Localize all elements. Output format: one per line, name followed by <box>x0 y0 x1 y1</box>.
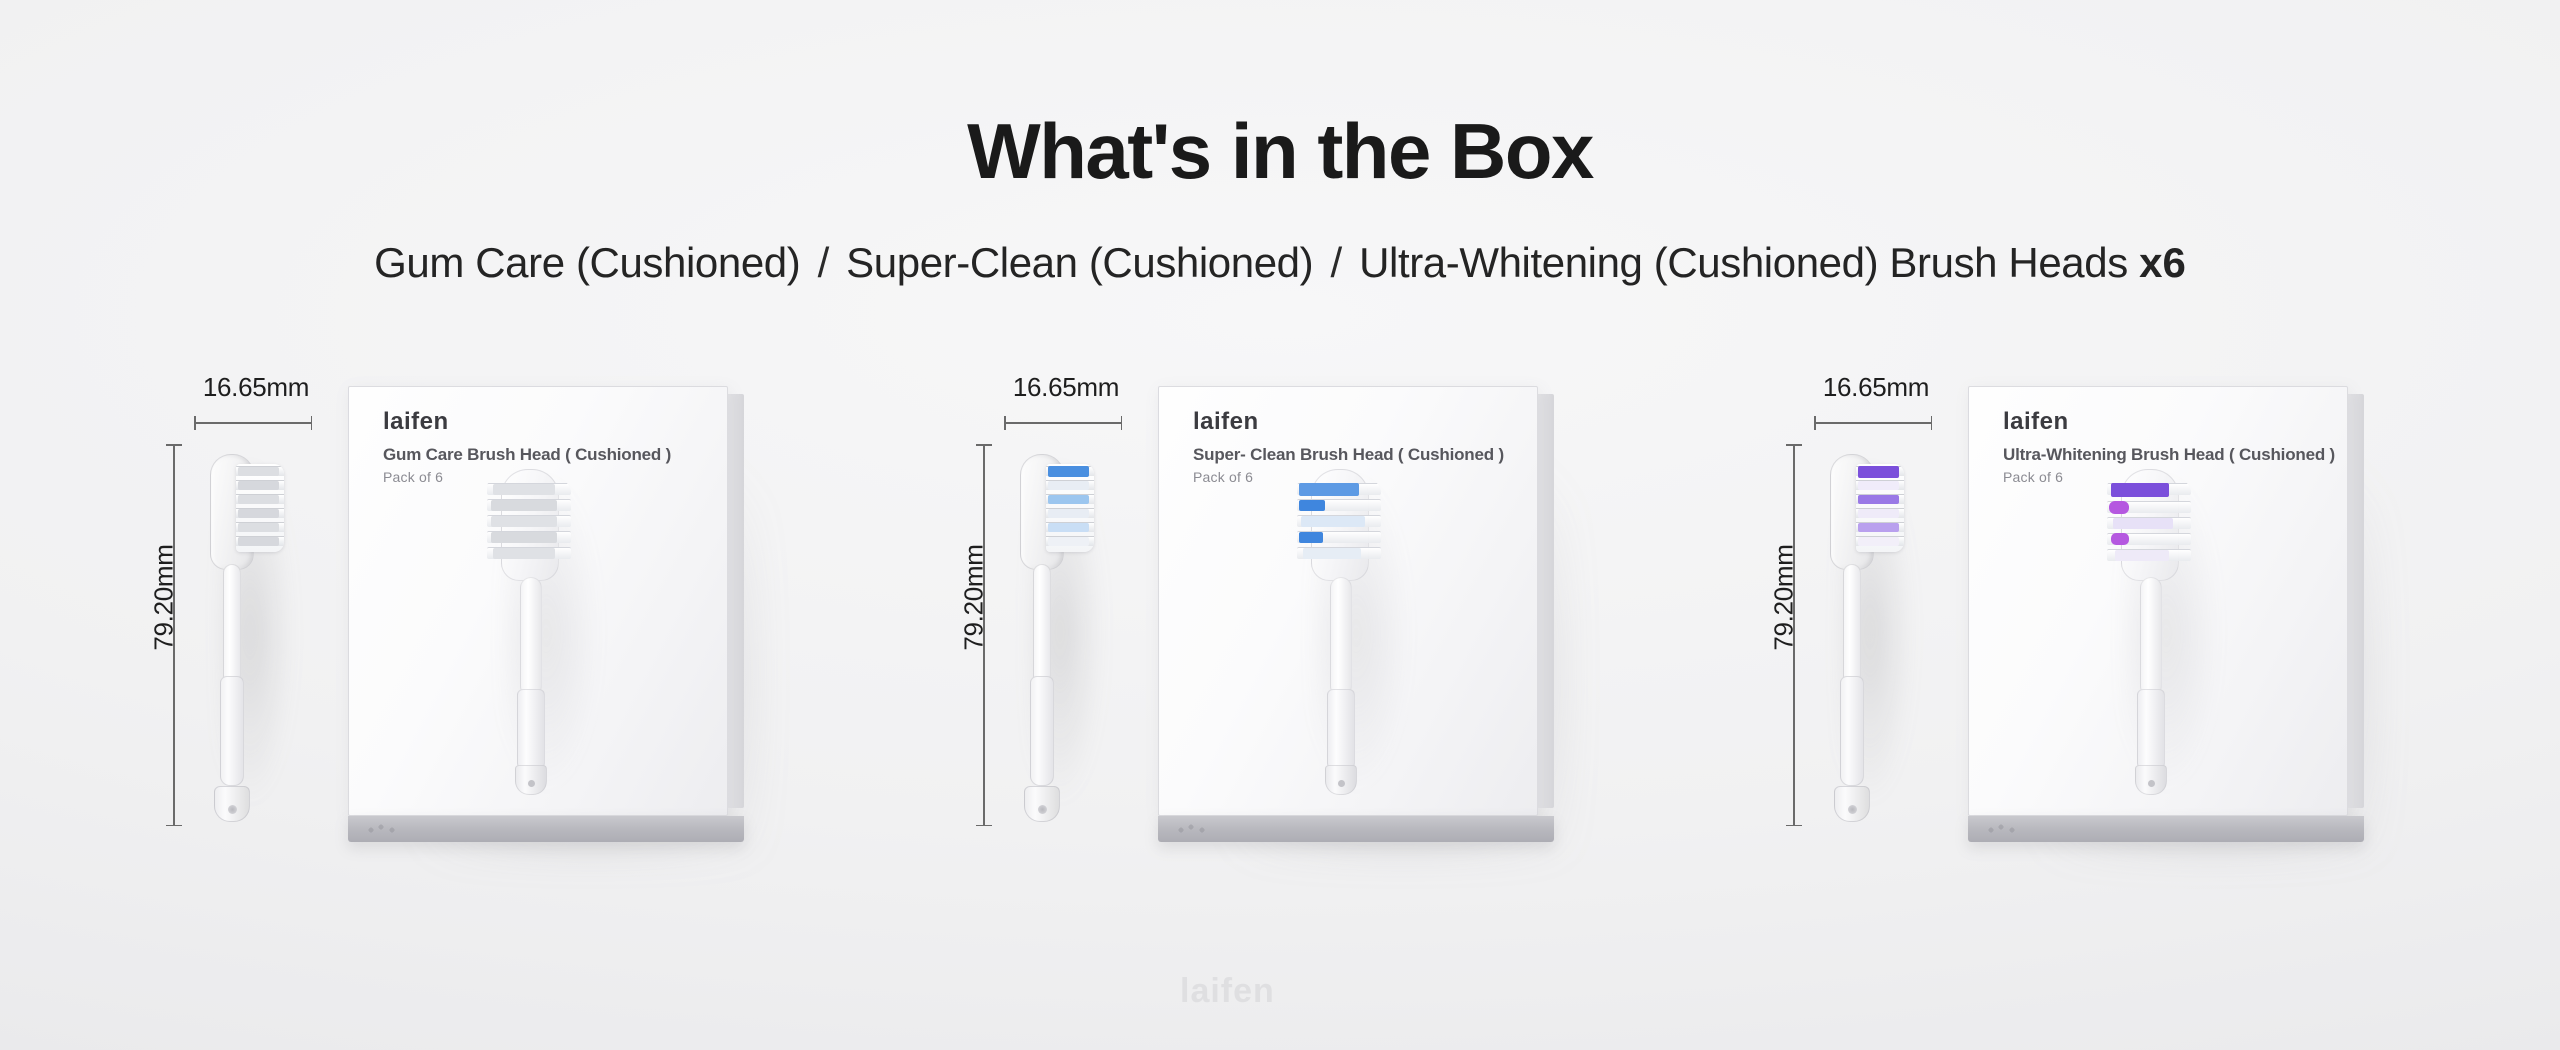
product-group-gum-care: 16.65mm 79.20mm <box>140 372 800 872</box>
artwork-shaft <box>2137 689 2165 769</box>
dimension-annotations-super-clean: 16.65mm 79.20mm <box>950 372 1150 872</box>
box-product-name: Ultra-Whitening Brush Head ( Cushioned ) <box>2003 445 2333 465</box>
height-dimension-label: 79.20mm <box>959 488 990 708</box>
artwork-neck <box>520 577 542 697</box>
product-group-ultra-whitening: 16.65mm 79.20mm <box>1760 372 2420 872</box>
brand-logo: laifen <box>383 409 713 435</box>
width-bar <box>1814 422 1932 424</box>
width-bar <box>194 422 312 424</box>
box-product-name: Super- Clean Brush Head ( Cushioned ) <box>1193 445 1523 465</box>
box-artwork-brush-head <box>1287 465 1437 795</box>
height-tick-bottom <box>166 825 182 827</box>
artwork-neck <box>1330 577 1352 697</box>
product-box-super-clean[interactable]: laifen Super- Clean Brush Head ( Cushion… <box>1146 372 1586 872</box>
brush-shaft <box>1030 676 1054 786</box>
dimension-annotations-ultra-whitening: 16.65mm 79.20mm <box>1760 372 1960 872</box>
artwork-base <box>2135 765 2167 795</box>
height-dimension-label: 79.20mm <box>1769 488 1800 708</box>
box-base-marking-icon <box>1176 823 1210 835</box>
brush-base <box>214 786 250 822</box>
box-artwork-brush-head <box>2097 465 2247 795</box>
product-box-gum-care[interactable]: laifen Gum Care Brush Head ( Cushioned )… <box>336 372 776 872</box>
page-title: What's in the Box <box>0 112 2560 190</box>
brush-bristles <box>1856 464 1904 552</box>
width-dimension-label: 16.65mm <box>176 372 336 403</box>
brush-bristles <box>236 464 284 552</box>
artwork-shaft <box>517 689 545 769</box>
subtitle-part-gum-care: Gum Care (Cushioned) <box>374 239 800 286</box>
width-dimension-label: 16.65mm <box>986 372 1146 403</box>
box-side-panel <box>1538 394 1554 808</box>
loose-brush-head-super-clean <box>1002 448 1098 822</box>
brush-bristles <box>1046 464 1094 552</box>
artwork-bristles <box>487 479 571 573</box>
loose-brush-head-ultra-whitening <box>1812 448 1908 822</box>
brush-neck <box>1033 564 1051 684</box>
height-dimension-label: 79.20mm <box>149 488 180 708</box>
width-tick-right <box>1121 416 1123 430</box>
artwork-base <box>515 765 547 795</box>
width-dimension-label: 16.65mm <box>1796 372 1956 403</box>
box-front-panel: laifen Ultra-Whitening Brush Head ( Cush… <box>1968 386 2348 816</box>
box-artwork-brush-head <box>477 465 627 795</box>
brand-logo: laifen <box>2003 409 2333 435</box>
product-group-super-clean: 16.65mm 79.20mm <box>950 372 1610 872</box>
box-base-marking-icon <box>1986 823 2020 835</box>
width-tick-right <box>1931 416 1933 430</box>
box-base-edge <box>1968 816 2364 842</box>
width-bar <box>1004 422 1122 424</box>
dimension-annotations-gum-care: 16.65mm 79.20mm <box>140 372 340 872</box>
artwork-base <box>1325 765 1357 795</box>
width-dimension-line <box>194 416 312 430</box>
box-base-edge <box>348 816 744 842</box>
box-side-panel <box>2348 394 2364 808</box>
artwork-shaft <box>1327 689 1355 769</box>
height-tick-bottom <box>1786 825 1802 827</box>
subtitle-part-super-clean: Super-Clean (Cushioned) <box>846 239 1313 286</box>
artwork-bristles <box>1297 479 1381 573</box>
brand-logo: laifen <box>1193 409 1523 435</box>
box-product-name: Gum Care Brush Head ( Cushioned ) <box>383 445 713 465</box>
width-dimension-line <box>1814 416 1932 430</box>
artwork-bristles <box>2107 479 2191 573</box>
width-tick-right <box>311 416 313 430</box>
artwork-neck <box>2140 577 2162 697</box>
subtitle-quantity: x6 <box>2139 239 2186 286</box>
subtitle-part-ultra-whitening: Ultra-Whitening (Cushioned) Brush Heads <box>1359 239 2128 286</box>
brush-base <box>1834 786 1870 822</box>
box-base-marking-icon <box>366 823 400 835</box>
subtitle-separator-2: / <box>1325 239 1348 286</box>
loose-brush-head-gum-care <box>192 448 288 822</box>
product-subtitle: Gum Care (Cushioned) / Super-Clean (Cush… <box>0 242 2560 284</box>
height-tick-bottom <box>976 825 992 827</box>
box-front-panel: laifen Gum Care Brush Head ( Cushioned )… <box>348 386 728 816</box>
box-front-panel: laifen Super- Clean Brush Head ( Cushion… <box>1158 386 1538 816</box>
heading-block: What's in the Box Gum Care (Cushioned) /… <box>0 0 2560 284</box>
box-base-edge <box>1158 816 1554 842</box>
brush-base <box>1024 786 1060 822</box>
brush-shaft <box>220 676 244 786</box>
box-side-panel <box>728 394 744 808</box>
product-showcase: 16.65mm 79.20mm <box>0 372 2560 892</box>
product-box-ultra-whitening[interactable]: laifen Ultra-Whitening Brush Head ( Cush… <box>1956 372 2396 872</box>
width-dimension-line <box>1004 416 1122 430</box>
brush-neck <box>223 564 241 684</box>
subtitle-separator-1: / <box>812 239 835 286</box>
brush-neck <box>1843 564 1861 684</box>
page-watermark: laifen <box>1180 972 1275 1011</box>
brush-shaft <box>1840 676 1864 786</box>
